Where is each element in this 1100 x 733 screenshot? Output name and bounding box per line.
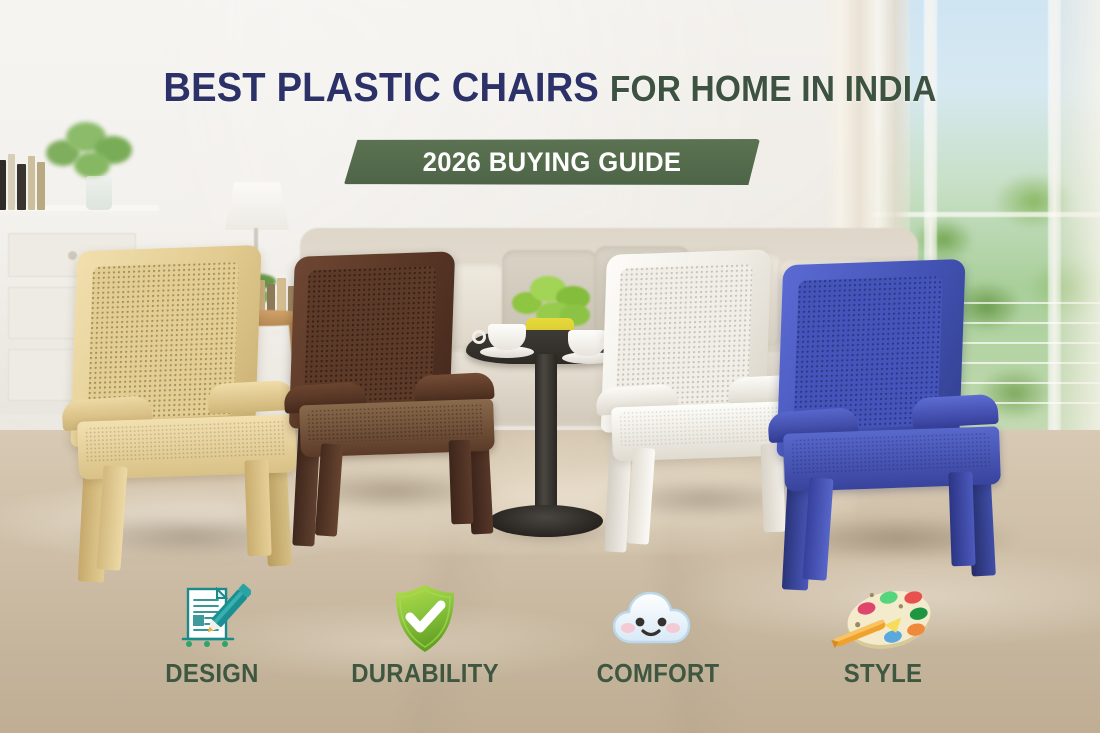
feature-style: STYLE bbox=[783, 580, 983, 689]
feature-design: DESIGN bbox=[112, 580, 312, 689]
feature-label-design: DESIGN bbox=[120, 658, 304, 689]
chair-leg-front-right bbox=[449, 440, 474, 525]
chair-leg-front-right bbox=[948, 472, 975, 567]
feature-label-durability: DURABILITY bbox=[333, 658, 517, 689]
comfort-icon-wrap bbox=[558, 580, 758, 658]
chair-leg-front-left bbox=[315, 443, 343, 536]
paint-palette-icon bbox=[827, 582, 939, 656]
design-icon-wrap bbox=[112, 580, 312, 658]
promotional-banner-image: BEST PLASTIC CHAIRS FOR HOME IN INDIA 20… bbox=[0, 0, 1100, 733]
chair-blue bbox=[762, 262, 1032, 574]
durability-icon-wrap bbox=[325, 580, 525, 658]
feature-label-style: STYLE bbox=[791, 658, 975, 689]
chair-leg-front-left bbox=[627, 447, 656, 544]
table-stem bbox=[535, 354, 557, 516]
feature-durability: DURABILITY bbox=[325, 580, 525, 689]
chair-armrest-right bbox=[911, 394, 998, 428]
headline-primary: BEST PLASTIC CHAIRS bbox=[163, 64, 599, 110]
headline-secondary: FOR HOME IN INDIA bbox=[610, 68, 937, 109]
smiling-cloud-icon bbox=[610, 584, 706, 654]
feature-label-comfort: COMFORT bbox=[566, 658, 750, 689]
window-curtain-right bbox=[1060, 0, 1100, 462]
feature-row: DESIGN DURABILITY bbox=[0, 580, 1100, 710]
chair-brown bbox=[282, 254, 526, 534]
style-icon-wrap bbox=[783, 580, 983, 658]
floor-lamp-shade bbox=[225, 182, 289, 230]
shield-check-icon bbox=[389, 582, 461, 656]
vase-with-plant bbox=[40, 118, 150, 210]
chair-leg-front-right bbox=[244, 460, 271, 557]
page-title: BEST PLASTIC CHAIRS FOR HOME IN INDIA bbox=[39, 64, 1062, 111]
feature-comfort: COMFORT bbox=[558, 580, 758, 689]
ribbon-label: 2026 BUYING GUIDE bbox=[354, 139, 749, 185]
document-pencil-icon bbox=[173, 583, 251, 655]
